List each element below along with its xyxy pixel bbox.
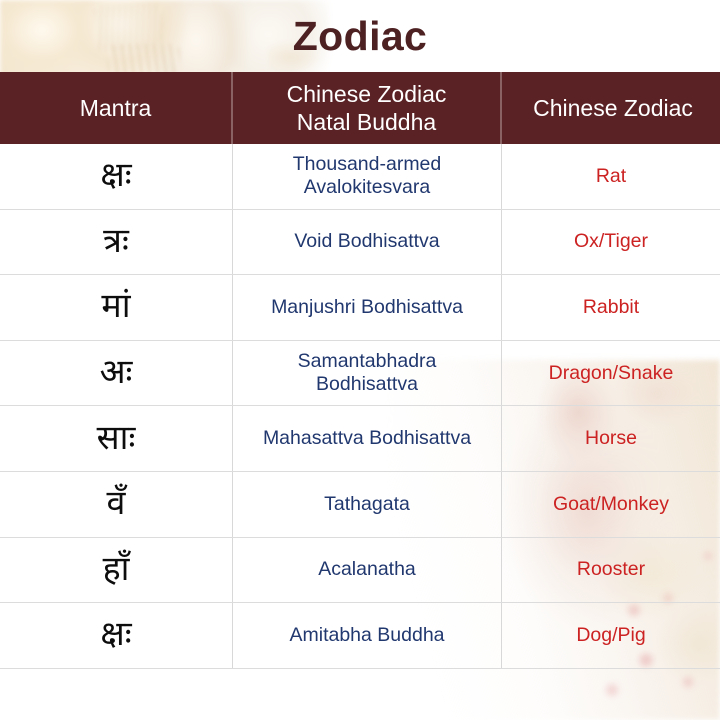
table-row: वँTathagataGoat/Monkey <box>0 472 720 538</box>
natal-buddha-line1: Acalanatha <box>318 558 416 581</box>
natal-buddha-line1: Samantabhadra <box>298 350 437 373</box>
title-area: Zodiac <box>0 0 720 72</box>
natal-buddha-cell: Manjushri Bodhisattva <box>233 275 502 340</box>
mantra-cell: क्षः <box>0 603 233 668</box>
mantra-cell: वँ <box>0 472 233 537</box>
mantra-cell: अः <box>0 341 233 406</box>
natal-buddha-line1: Thousand-armed <box>293 153 442 176</box>
table-header-row: Mantra Chinese Zodiac Natal Buddha Chine… <box>0 72 720 144</box>
column-header-chinese-zodiac: Chinese Zodiac <box>502 72 720 144</box>
table-row: मांManjushri BodhisattvaRabbit <box>0 275 720 341</box>
natal-buddha-cell: Acalanatha <box>233 538 502 603</box>
natal-buddha-line1: Amitabha Buddha <box>289 624 444 647</box>
zodiac-infographic: Zodiac Mantra Chinese Zodiac Natal Buddh… <box>0 0 720 720</box>
natal-buddha-cell: Void Bodhisattva <box>233 210 502 275</box>
chinese-zodiac-cell: Dog/Pig <box>502 603 720 668</box>
seed-syllable-vam-icon: वँ <box>107 486 126 520</box>
seed-syllable-hamm-icon: हाँ <box>103 552 130 586</box>
seed-syllable-sa-icon: साः <box>97 421 136 455</box>
mantra-cell: त्रः <box>0 210 233 275</box>
seed-syllable-ah-icon: अः <box>100 355 133 389</box>
seed-syllable-hrih-icon: क्षः <box>100 617 131 651</box>
seed-syllable-tram-icon: त्रः <box>103 224 129 258</box>
column-header-mantra: Mantra <box>0 72 233 144</box>
natal-buddha-cell: Amitabha Buddha <box>233 603 502 668</box>
seed-syllable-hrih-icon: क्षः <box>100 158 131 192</box>
mantra-cell: मां <box>0 275 233 340</box>
column-header-natal-buddha-line1: Chinese Zodiac <box>287 80 447 108</box>
page-title: Zodiac <box>0 8 720 64</box>
natal-buddha-line2: Avalokitesvara <box>293 176 442 199</box>
chinese-zodiac-cell: Goat/Monkey <box>502 472 720 537</box>
column-header-natal-buddha: Chinese Zodiac Natal Buddha <box>233 72 502 144</box>
natal-buddha-cell: SamantabhadraBodhisattva <box>233 341 502 406</box>
natal-buddha-line1: Tathagata <box>324 493 410 516</box>
seed-syllable-man-icon: मां <box>101 289 130 323</box>
mantra-cell: क्षः <box>0 144 233 209</box>
column-header-natal-buddha-line2: Natal Buddha <box>287 108 447 136</box>
table-row: हाँAcalanathaRooster <box>0 538 720 604</box>
natal-buddha-line1: Mahasattva Bodhisattva <box>263 427 471 450</box>
natal-buddha-cell: Mahasattva Bodhisattva <box>233 406 502 471</box>
natal-buddha-cell: Tathagata <box>233 472 502 537</box>
table-row: क्षःThousand-armedAvalokitesvaraRat <box>0 144 720 210</box>
table-row: साःMahasattva BodhisattvaHorse <box>0 406 720 472</box>
natal-buddha-line1: Void Bodhisattva <box>294 230 439 253</box>
zodiac-table: Mantra Chinese Zodiac Natal Buddha Chine… <box>0 72 720 669</box>
chinese-zodiac-cell: Dragon/Snake <box>502 341 720 406</box>
table-row: क्षःAmitabha BuddhaDog/Pig <box>0 603 720 669</box>
natal-buddha-line1: Manjushri Bodhisattva <box>271 296 463 319</box>
table-row: त्रःVoid BodhisattvaOx/Tiger <box>0 210 720 276</box>
mantra-cell: हाँ <box>0 538 233 603</box>
mantra-cell: साः <box>0 406 233 471</box>
table-body: क्षःThousand-armedAvalokitesvaraRatत्रःV… <box>0 144 720 669</box>
chinese-zodiac-cell: Rabbit <box>502 275 720 340</box>
table-row: अःSamantabhadraBodhisattvaDragon/Snake <box>0 341 720 407</box>
chinese-zodiac-cell: Ox/Tiger <box>502 210 720 275</box>
chinese-zodiac-cell: Rat <box>502 144 720 209</box>
chinese-zodiac-cell: Rooster <box>502 538 720 603</box>
chinese-zodiac-cell: Horse <box>502 406 720 471</box>
natal-buddha-cell: Thousand-armedAvalokitesvara <box>233 144 502 209</box>
natal-buddha-line2: Bodhisattva <box>298 373 437 396</box>
